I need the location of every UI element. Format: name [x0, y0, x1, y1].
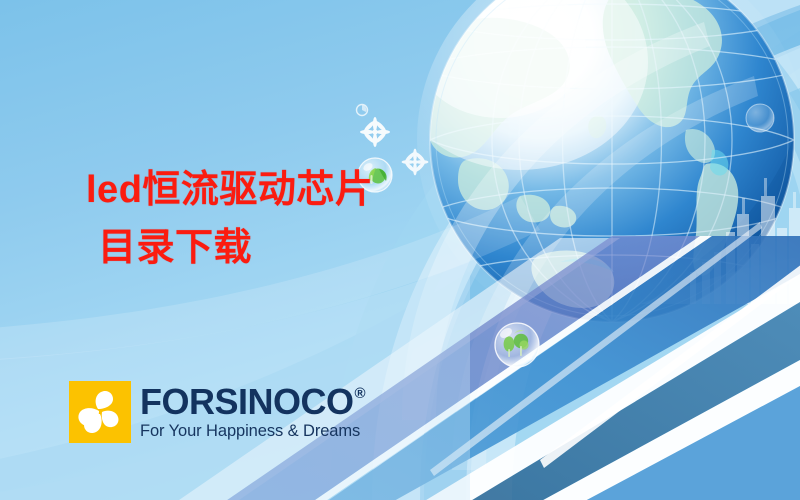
slide-canvas: led恒流驱动芯片 目录下载 FORSINOCO ® For Your Happ…	[0, 0, 800, 500]
headline-line-1: led恒流驱动芯片	[86, 169, 373, 211]
registered-trademark-icon: ®	[355, 386, 366, 401]
logo-tagline: For Your Happiness & Dreams	[140, 422, 365, 440]
logo-wordmark: FORSINOCO ®	[140, 384, 365, 419]
eco-bubble-large	[495, 323, 539, 367]
company-logo: FORSINOCO ® For Your Happiness & Dreams	[69, 381, 365, 443]
logo-wordmark-text: FORSINOCO	[140, 384, 354, 419]
four-petal-pinwheel-icon	[69, 381, 131, 443]
headline-text: led恒流驱动芯片 目录下载	[86, 162, 373, 278]
logo-text-block: FORSINOCO ® For Your Happiness & Dreams	[140, 384, 365, 439]
logo-mark	[69, 381, 131, 443]
headline-line-2: 目录下载	[86, 220, 373, 278]
